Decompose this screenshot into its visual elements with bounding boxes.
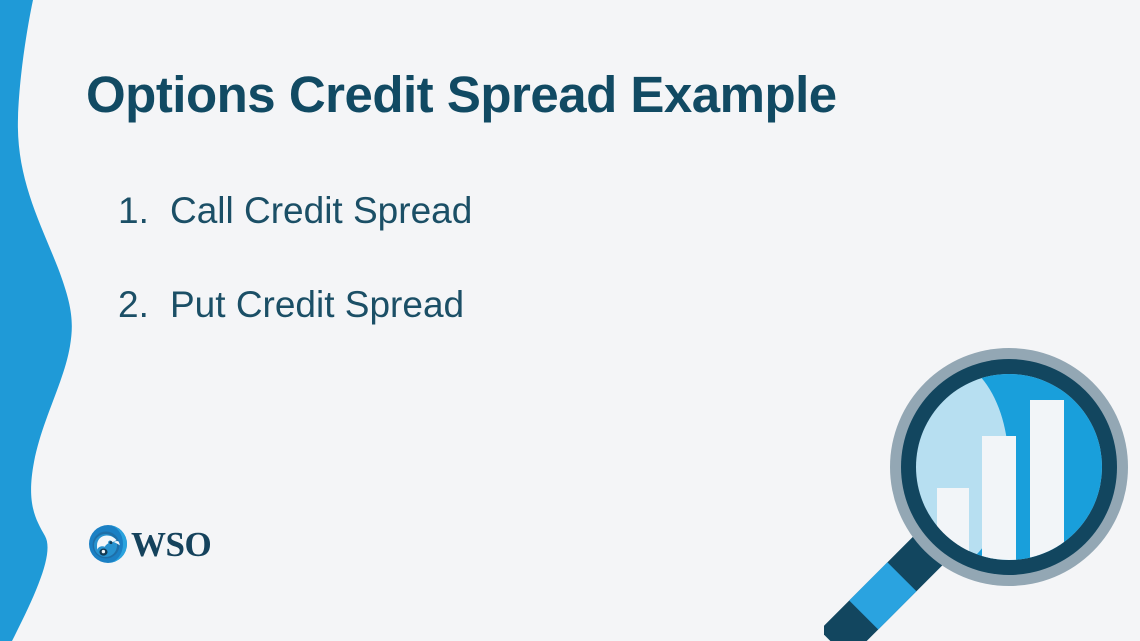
list-item: 2. Put Credit Spread: [118, 286, 472, 323]
bar-3: [1030, 400, 1064, 561]
list-item-number: 1.: [118, 192, 170, 229]
wso-logo: WSO: [88, 524, 211, 564]
bullet-list: 1. Call Credit Spread 2. Put Credit Spre…: [118, 192, 472, 380]
wso-globe-icon: [88, 524, 128, 564]
bar-2: [982, 436, 1016, 561]
list-item-label: Put Credit Spread: [170, 286, 464, 323]
magnifying-glass-bar-chart-icon: [824, 336, 1140, 641]
list-item: 1. Call Credit Spread: [118, 192, 472, 229]
page-title: Options Credit Spread Example: [86, 66, 837, 125]
wso-wordmark: WSO: [131, 527, 211, 562]
list-item-label: Call Credit Spread: [170, 192, 472, 229]
slide-canvas: Options Credit Spread Example 1. Call Cr…: [0, 0, 1140, 641]
list-item-number: 2.: [118, 286, 170, 323]
